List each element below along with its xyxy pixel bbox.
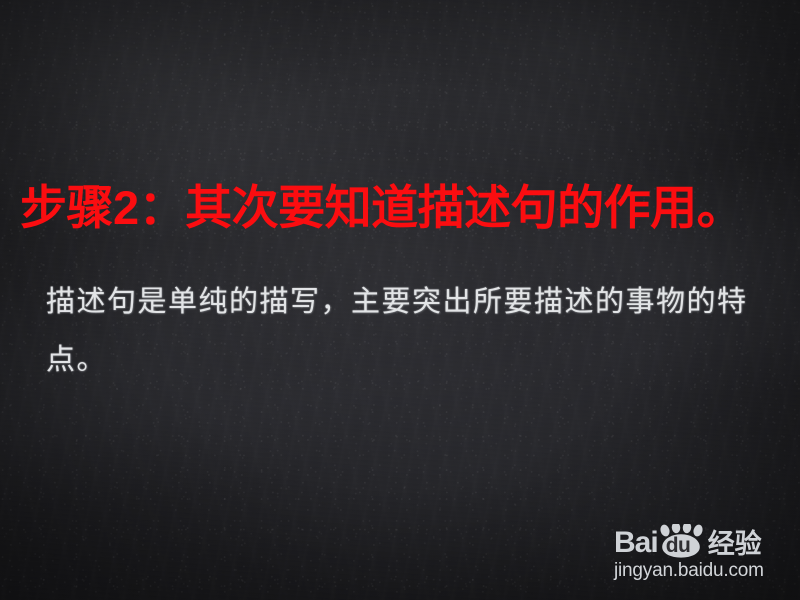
paw-print-icon: du xyxy=(657,524,705,558)
slide-body-text: 描述句是单纯的描写，主要突出所要描述的事物的特点。 xyxy=(46,272,794,388)
slide-title: 步骤2：其次要知道描述句的作用。 xyxy=(20,183,780,233)
baidu-logo-jingyan-text: 经验 xyxy=(708,530,762,558)
baidu-logo: Bai du 经验 xyxy=(614,526,790,558)
watermark-url: jingyan.baidu.com xyxy=(614,560,790,581)
baidu-jingyan-watermark: Bai du 经验 jingyan.baidu.com xyxy=(614,526,790,581)
baidu-logo-bai-text: Bai xyxy=(614,528,658,558)
slide-canvas: 步骤2：其次要知道描述句的作用。 描述句是单纯的描写，主要突出所要描述的事物的特… xyxy=(0,0,800,600)
baidu-logo-du-text: du xyxy=(666,535,691,556)
